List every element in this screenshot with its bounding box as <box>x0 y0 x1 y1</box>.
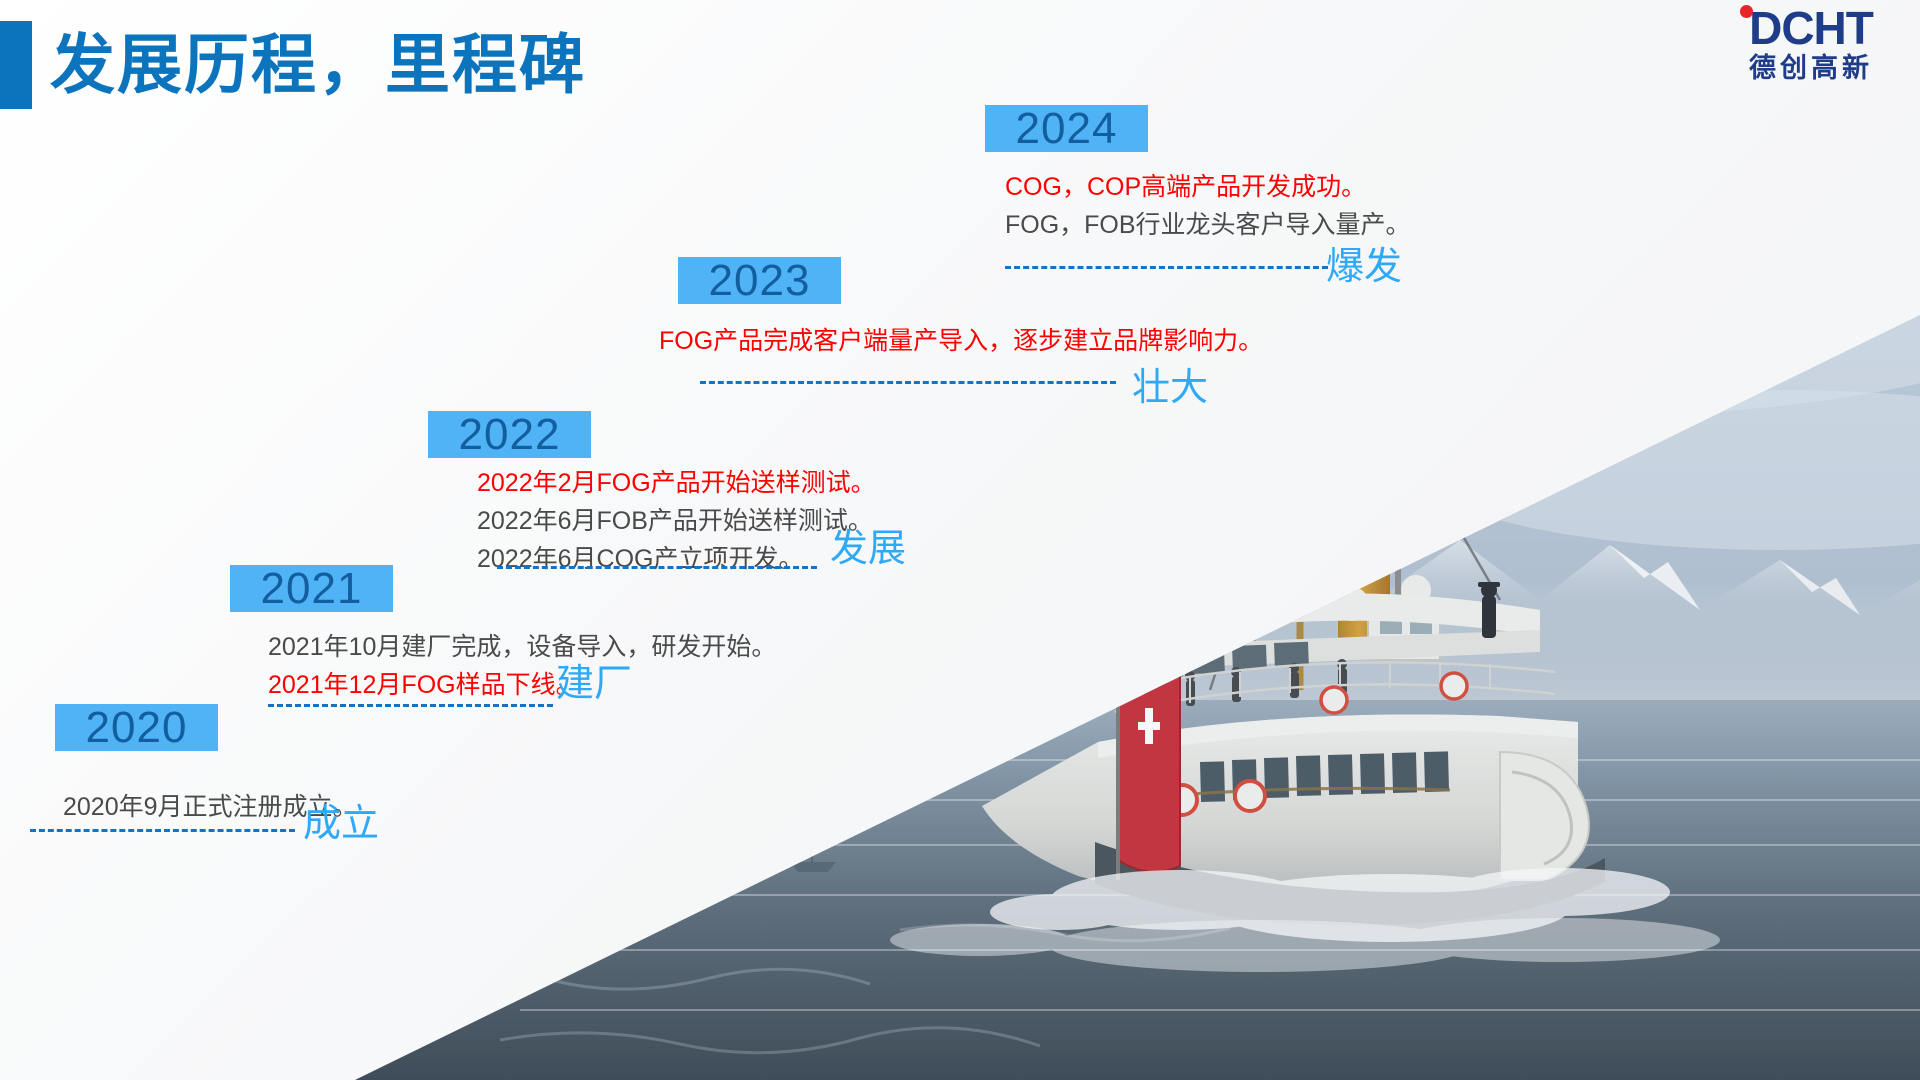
milestone-2024-dash <box>1005 266 1328 269</box>
year-badge-2022: 2022 <box>428 411 591 458</box>
milestone-line: FOG，FOB行业龙头客户导入量产。 <box>1005 206 1411 244</box>
page-title: 发展历程，里程碑 <box>50 24 586 105</box>
milestone-line: 2022年2月FOG产品开始送样测试。 <box>477 464 876 502</box>
company-logo: DCHT 德创高新 <box>1718 4 1904 94</box>
phase-label-2020: 成立 <box>303 805 379 843</box>
milestone-line: 2021年10月建厂完成，设备导入，研发开始。 <box>268 628 776 666</box>
logo-wordmark: DCHT <box>1718 4 1904 52</box>
milestone-2024-lines: COG，COP高端产品开发成功。 FOG，FOB行业龙头客户导入量产。 <box>1005 168 1411 244</box>
year-badge-2023: 2023 <box>678 257 841 304</box>
slide-canvas: 发展历程，里程碑 DCHT 德创高新 2024 COG，COP高端产品开发成功。… <box>0 0 1920 1080</box>
milestone-2020-dash <box>30 829 295 832</box>
milestone-line: COG，COP高端产品开发成功。 <box>1005 168 1411 206</box>
year-badge-2020: 2020 <box>55 704 218 751</box>
background-photo <box>0 0 1920 1080</box>
phase-label-2021: 建厂 <box>556 665 632 703</box>
phase-label-2023: 壮大 <box>1132 369 1208 407</box>
milestone-2023-dash <box>700 381 1116 384</box>
title-accent-bar <box>0 21 32 109</box>
milestone-2021-lines: 2021年10月建厂完成，设备导入，研发开始。 2021年12月FOG样品下线。 <box>268 628 776 704</box>
phase-label-2022: 发展 <box>830 530 906 568</box>
milestone-2023-lines: FOG产品完成客户端量产导入，逐步建立品牌影响力。 <box>659 322 1263 360</box>
milestone-line: 2021年12月FOG样品下线。 <box>268 666 776 704</box>
year-badge-2021: 2021 <box>230 565 393 612</box>
logo-red-dot-icon <box>1740 5 1753 18</box>
logo-chinese-name: 德创高新 <box>1718 52 1904 84</box>
milestone-line: FOG产品完成客户端量产导入，逐步建立品牌影响力。 <box>659 322 1263 360</box>
milestone-line: 2022年6月COG产立项开发。 <box>477 540 876 578</box>
milestone-2022-dash <box>497 566 817 569</box>
phase-label-2024: 爆发 <box>1326 248 1402 286</box>
logo-wordmark-text: DCHT <box>1749 2 1873 54</box>
milestone-line: 2022年6月FOB产品开始送样测试。 <box>477 502 876 540</box>
milestone-2022-lines: 2022年2月FOG产品开始送样测试。 2022年6月FOB产品开始送样测试。 … <box>477 464 876 578</box>
year-badge-2024: 2024 <box>985 105 1148 152</box>
milestone-2021-dash <box>268 704 553 707</box>
